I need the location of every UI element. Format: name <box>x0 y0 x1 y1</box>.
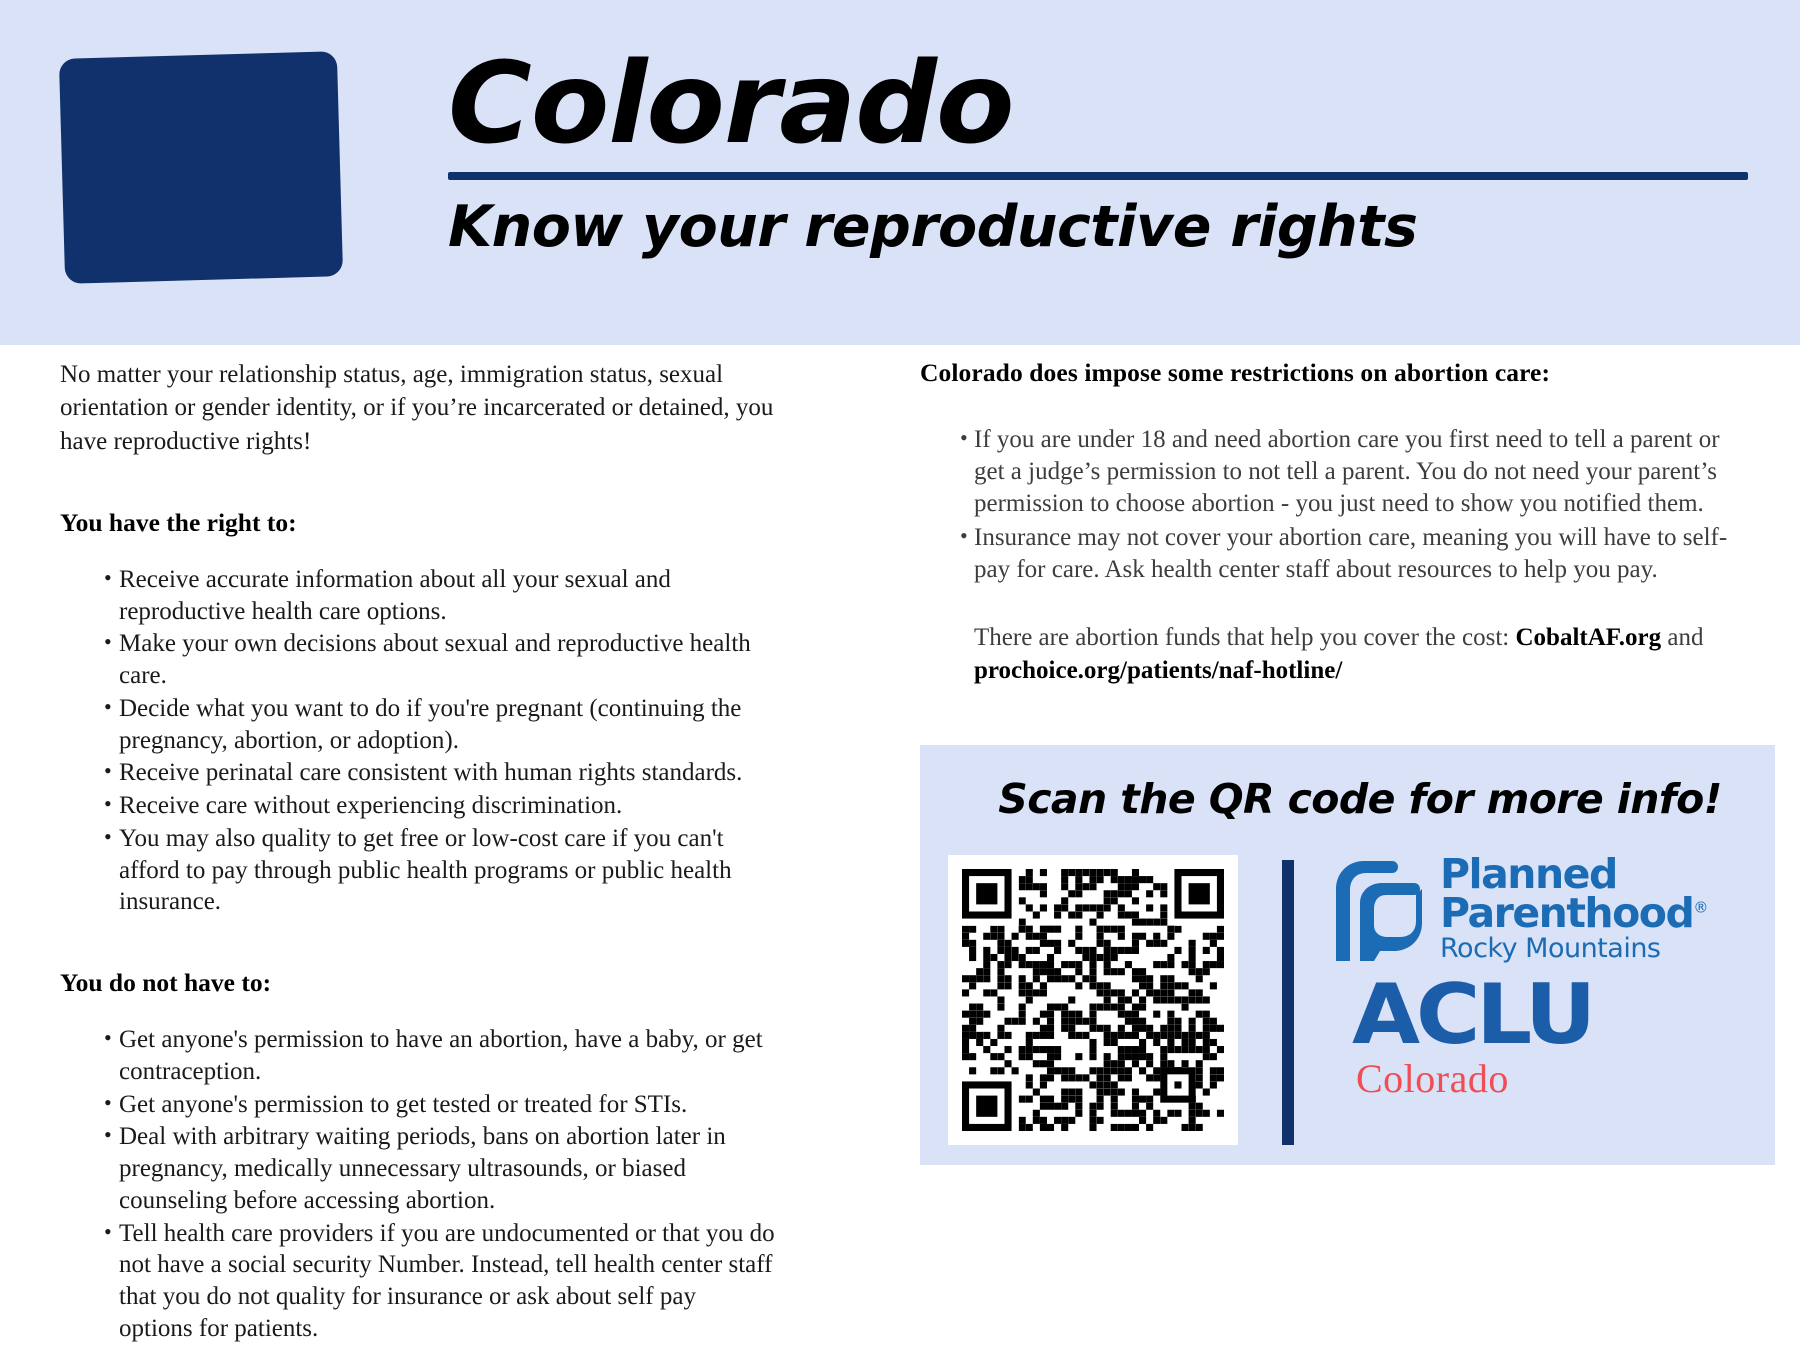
header-text-group: Colorado Know your reproductive rights <box>448 48 1748 258</box>
rights-list: Receive accurate information about all y… <box>60 564 775 918</box>
restrictions-heading: Colorado does impose some restrictions o… <box>920 358 1740 388</box>
intro-paragraph: No matter your relationship status, age,… <box>60 358 775 458</box>
list-item: You may also quality to get free or low-… <box>104 823 775 918</box>
abortion-funds-paragraph: There are abortion funds that help you c… <box>974 622 1714 687</box>
not-required-list: Get anyone's permission to have an abort… <box>60 1024 775 1345</box>
partner-logos: Planned Parenthood® Rocky Mountains ACLU… <box>1330 855 1750 1150</box>
qr-panel-title: Scan the QR code for more info! <box>965 775 1755 823</box>
list-item: Deal with arbitrary waiting periods, ban… <box>104 1121 775 1216</box>
pp-line-2-text: Parenthood <box>1440 889 1693 937</box>
list-item: Receive perinatal care consistent with h… <box>104 757 775 789</box>
right-content-column: Colorado does impose some restrictions o… <box>920 358 1740 687</box>
page-subtitle: Know your reproductive rights <box>448 198 1748 258</box>
pp-line-2: Parenthood® <box>1440 894 1707 933</box>
restrictions-list: If you are under 18 and need abortion ca… <box>920 424 1740 586</box>
list-item: Get anyone's permission to have an abort… <box>104 1024 775 1088</box>
list-item: Make your own decisions about sexual and… <box>104 628 775 692</box>
registered-trademark-icon: ® <box>1693 898 1707 916</box>
pp-affiliate-line: Rocky Mountains <box>1440 936 1707 962</box>
not-required-heading: You do not have to: <box>60 968 775 998</box>
planned-parenthood-mark-icon <box>1330 855 1426 963</box>
aclu-wordmark: ACLU <box>1352 977 1592 1053</box>
qr-code-icon[interactable] <box>962 869 1224 1131</box>
colorado-state-silhouette-icon <box>59 51 343 284</box>
list-item: Decide what you want to do if you're pre… <box>104 693 775 757</box>
vertical-divider <box>1282 860 1294 1145</box>
list-item: Receive accurate information about all y… <box>104 564 775 628</box>
planned-parenthood-logo: Planned Parenthood® Rocky Mountains <box>1330 855 1750 963</box>
planned-parenthood-wordmark: Planned Parenthood® Rocky Mountains <box>1440 855 1707 962</box>
funds-prefix-text: There are abortion funds that help you c… <box>974 624 1515 651</box>
funds-link-naf[interactable]: prochoice.org/patients/naf-hotline/ <box>974 657 1342 684</box>
list-item: If you are under 18 and need abortion ca… <box>960 424 1740 520</box>
qr-info-panel: Scan the QR code for more info! Planned … <box>920 745 1775 1165</box>
list-item: Insurance may not cover your abortion ca… <box>960 522 1740 586</box>
page-title: Colorado <box>448 48 1774 160</box>
funds-link-cobalt[interactable]: CobaltAF.org <box>1515 624 1661 651</box>
list-item: Receive care without experiencing discri… <box>104 790 775 822</box>
aclu-logo: ACLU Colorado <box>1352 977 1750 1102</box>
list-item: Tell health care providers if you are un… <box>104 1218 775 1345</box>
page-header: Colorado Know your reproductive rights <box>0 0 1800 345</box>
rights-heading: You have the right to: <box>60 508 775 538</box>
list-item: Get anyone's permission to get tested or… <box>104 1089 775 1121</box>
title-divider-rule <box>448 172 1748 180</box>
qr-code-container[interactable] <box>948 855 1238 1145</box>
left-content-column: No matter your relationship status, age,… <box>60 358 775 1346</box>
funds-join-text: and <box>1661 624 1703 651</box>
